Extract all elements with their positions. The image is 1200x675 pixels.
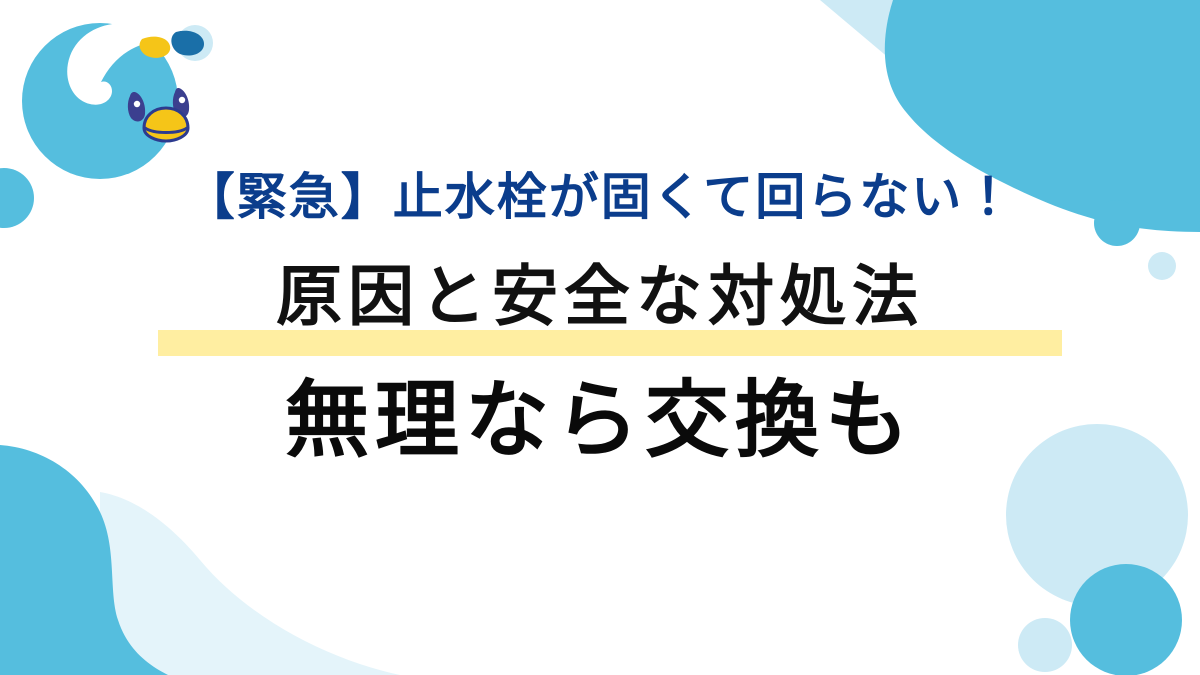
water-drop-bird-mascot <box>18 8 218 198</box>
bottom-left-pale-wave-decoration <box>100 492 400 675</box>
dot-right-medium-decoration <box>1094 200 1140 246</box>
dot-right-tiny-decoration <box>1148 252 1176 280</box>
top-right-wave-decoration <box>885 0 1200 232</box>
dot-bottom-right-medium-decoration <box>1070 564 1182 675</box>
mascot-splash-blue <box>171 31 204 56</box>
mascot-beak <box>144 108 188 141</box>
mascot-eye-right-glint <box>179 97 185 103</box>
dot-bottom-right-tiny-decoration <box>1018 618 1072 672</box>
eyecatch-canvas: 【緊急】止水栓が固くて回らない！ 原因と安全な対処法 無理なら交換も <box>0 0 1200 675</box>
mascot-eye-left-glint <box>134 101 140 107</box>
